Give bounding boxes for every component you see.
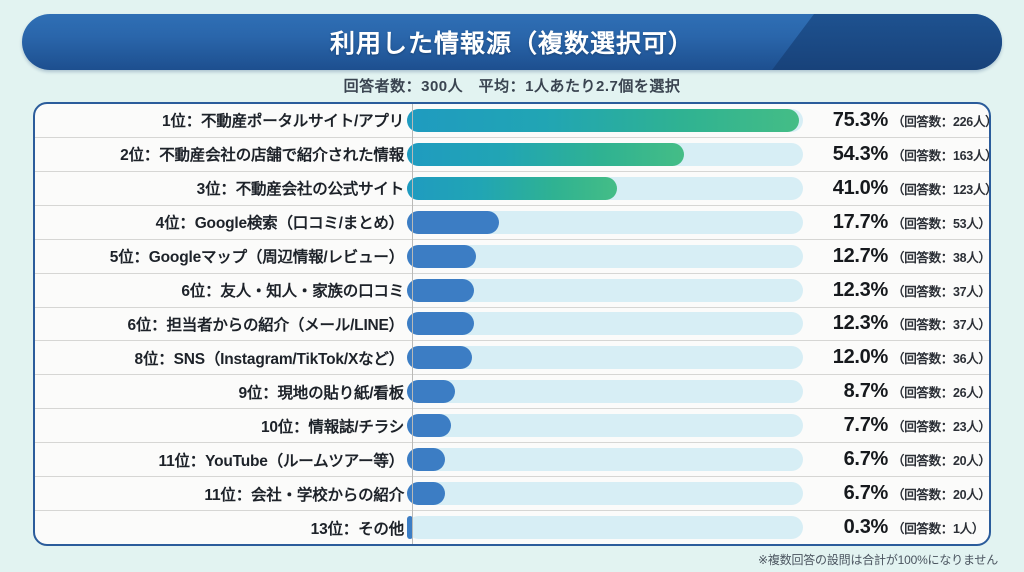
table-row: 6位：友人・知人・家族の口コミ12.3%（回答数：37人）	[35, 274, 989, 308]
table-row: 6位：担当者からの紹介（メール/LINE）12.3%（回答数：37人）	[35, 308, 989, 342]
row-value: 6.7%（回答数：20人）	[806, 482, 991, 505]
row-value: 17.7%（回答数：53人）	[806, 211, 991, 234]
bar-fill	[407, 482, 445, 505]
row-percentage: 0.3%	[816, 516, 888, 539]
bar-fill	[407, 380, 455, 403]
row-label: 5位：Googleマップ（周辺情報/レビュー）	[35, 245, 404, 267]
row-percentage: 6.7%	[816, 448, 888, 471]
table-row: 4位：Google検索（口コミ/まとめ）17.7%（回答数：53人）	[35, 206, 989, 240]
bar-fill	[407, 279, 474, 302]
row-percentage: 12.0%	[816, 346, 888, 369]
row-count: （回答数：38人）	[892, 247, 991, 266]
bar-fill	[407, 346, 472, 369]
row-value: 75.3%（回答数：226人）	[806, 109, 991, 132]
row-label: 11位：YouTube（ルームツアー等）	[35, 449, 404, 471]
row-label: 11位：会社・学校からの紹介	[35, 483, 404, 505]
row-value: 6.7%（回答数：20人）	[806, 448, 991, 471]
row-count: （回答数：20人）	[892, 484, 991, 503]
row-count: （回答数：37人）	[892, 281, 991, 300]
page-title: 利用した情報源（複数選択可）	[22, 14, 1002, 70]
row-count: （回答数：23人）	[892, 416, 991, 435]
bar-area	[404, 143, 806, 166]
survey-summary-text: 回答者数：300人 平均：1人あたり2.7個を選択	[0, 75, 1024, 96]
bar-fill	[407, 109, 799, 132]
row-count: （回答数：37人）	[892, 314, 991, 333]
bar-area	[404, 109, 806, 132]
bar-area	[404, 380, 806, 403]
row-count: （回答数：36人）	[892, 348, 991, 367]
row-percentage: 12.7%	[816, 245, 888, 268]
bar-area	[404, 279, 806, 302]
row-label: 2位：不動産会社の店舗で紹介された情報	[35, 143, 404, 165]
bar-fill	[407, 448, 445, 471]
row-count: （回答数：163人）	[892, 145, 991, 164]
bar-track	[407, 414, 803, 437]
row-percentage: 12.3%	[816, 312, 888, 335]
row-label: 6位：友人・知人・家族の口コミ	[35, 279, 404, 301]
bar-area	[404, 312, 806, 335]
row-label: 8位：SNS（Instagram/TikTok/Xなど）	[35, 347, 404, 369]
row-label: 10位：情報誌/チラシ	[35, 415, 404, 437]
bar-fill	[407, 143, 684, 166]
row-count: （回答数：26人）	[892, 382, 991, 401]
table-row: 1位：不動産ポータルサイト/アプリ75.3%（回答数：226人）	[35, 104, 989, 138]
row-label: 1位：不動産ポータルサイト/アプリ	[35, 109, 404, 131]
row-count: （回答数：53人）	[892, 213, 991, 232]
row-count: （回答数：123人）	[892, 179, 991, 198]
row-label: 3位：不動産会社の公式サイト	[35, 177, 404, 199]
bar-area	[404, 516, 806, 539]
bar-track	[407, 177, 803, 200]
row-percentage: 12.3%	[816, 279, 888, 302]
bar-area	[404, 245, 806, 268]
header-banner: 利用した情報源（複数選択可）	[22, 14, 1002, 70]
row-percentage: 6.7%	[816, 482, 888, 505]
bar-track	[407, 482, 803, 505]
bar-area	[404, 346, 806, 369]
bar-track	[407, 448, 803, 471]
bar-fill	[407, 414, 451, 437]
row-percentage: 7.7%	[816, 414, 888, 437]
table-row: 9位：現地の貼り紙/看板8.7%（回答数：26人）	[35, 375, 989, 409]
bar-track	[407, 211, 803, 234]
table-row: 8位：SNS（Instagram/TikTok/Xなど）12.0%（回答数：36…	[35, 341, 989, 375]
table-row: 3位：不動産会社の公式サイト41.0%（回答数：123人）	[35, 172, 989, 206]
bar-fill	[407, 211, 499, 234]
bar-track	[407, 346, 803, 369]
row-label: 4位：Google検索（口コミ/まとめ）	[35, 211, 404, 233]
bar-fill	[407, 177, 617, 200]
row-percentage: 75.3%	[816, 109, 888, 132]
row-label: 13位：その他	[35, 517, 404, 539]
row-value: 12.3%（回答数：37人）	[806, 312, 991, 335]
table-row: 11位：YouTube（ルームツアー等）6.7%（回答数：20人）	[35, 443, 989, 477]
row-value: 7.7%（回答数：23人）	[806, 414, 991, 437]
row-label: 6位：担当者からの紹介（メール/LINE）	[35, 313, 404, 335]
row-value: 0.3%（回答数：1人）	[806, 516, 989, 539]
bar-fill	[407, 312, 474, 335]
bar-area	[404, 482, 806, 505]
row-value: 12.7%（回答数：38人）	[806, 245, 991, 268]
table-row: 10位：情報誌/チラシ7.7%（回答数：23人）	[35, 409, 989, 443]
row-percentage: 8.7%	[816, 380, 888, 403]
bar-track	[407, 279, 803, 302]
row-count: （回答数：226人）	[892, 111, 991, 130]
bar-track	[407, 380, 803, 403]
bar-chart-rows: 1位：不動産ポータルサイト/アプリ75.3%（回答数：226人）2位：不動産会社…	[35, 104, 989, 544]
bar-track	[407, 245, 803, 268]
bar-track	[407, 109, 803, 132]
table-row: 5位：Googleマップ（周辺情報/レビュー）12.7%（回答数：38人）	[35, 240, 989, 274]
bar-fill	[407, 245, 476, 268]
row-value: 12.3%（回答数：37人）	[806, 279, 991, 302]
row-percentage: 54.3%	[816, 143, 888, 166]
bar-area	[404, 448, 806, 471]
table-row: 2位：不動産会社の店舗で紹介された情報54.3%（回答数：163人）	[35, 138, 989, 172]
chart-footnote: ※複数回答の設問は合計が100%になりません	[758, 551, 998, 568]
row-value: 41.0%（回答数：123人）	[806, 177, 991, 200]
row-value: 8.7%（回答数：26人）	[806, 380, 991, 403]
table-row: 11位：会社・学校からの紹介6.7%（回答数：20人）	[35, 477, 989, 511]
row-count: （回答数：1人）	[892, 518, 984, 537]
table-row: 13位：その他0.3%（回答数：1人）	[35, 511, 989, 544]
bar-fill	[407, 516, 413, 539]
row-value: 54.3%（回答数：163人）	[806, 143, 991, 166]
bar-track	[407, 312, 803, 335]
row-percentage: 41.0%	[816, 177, 888, 200]
bar-track	[407, 143, 803, 166]
row-label: 9位：現地の貼り紙/看板	[35, 381, 404, 403]
row-value: 12.0%（回答数：36人）	[806, 346, 991, 369]
chart-card: 1位：不動産ポータルサイト/アプリ75.3%（回答数：226人）2位：不動産会社…	[33, 102, 991, 546]
row-percentage: 17.7%	[816, 211, 888, 234]
bar-track	[407, 516, 803, 539]
row-count: （回答数：20人）	[892, 450, 991, 469]
bar-area	[404, 414, 806, 437]
bar-area	[404, 211, 806, 234]
bar-area	[404, 177, 806, 200]
